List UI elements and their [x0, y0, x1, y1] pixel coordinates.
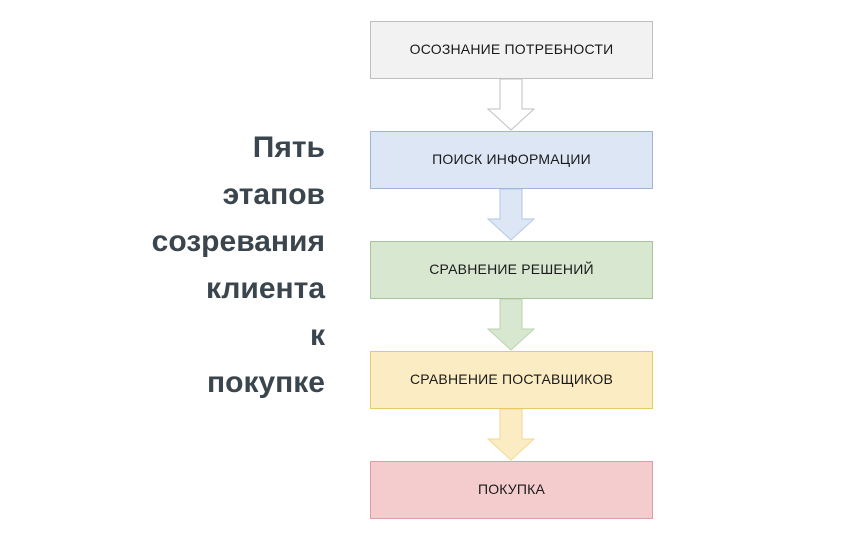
- arrow-down-icon-3: [487, 299, 535, 351]
- flow-stage-5[interactable]: ПОКУПКА: [370, 461, 653, 519]
- flow-stage-4[interactable]: СРАВНЕНИЕ ПОСТАВЩИКОВ: [370, 351, 653, 409]
- page-title: Пять этапов созревания клиента к покупке: [20, 124, 325, 406]
- page-title-line-2: этапов: [20, 171, 325, 218]
- flowchart: ОСОЗНАНИЕ ПОТРЕБНОСТИ ПОИСК ИНФОРМАЦИИ С…: [370, 21, 653, 521]
- diagram-canvas: Пять этапов созревания клиента к покупке…: [0, 0, 850, 541]
- arrow-down-icon-4: [487, 409, 535, 461]
- page-title-line-4: клиента: [20, 265, 325, 312]
- flow-stage-5-label: ПОКУПКА: [478, 482, 545, 497]
- flow-stage-2-label: ПОИСК ИНФОРМАЦИИ: [432, 152, 591, 167]
- flow-stage-1[interactable]: ОСОЗНАНИЕ ПОТРЕБНОСТИ: [370, 21, 653, 79]
- page-title-line-5: к: [20, 312, 325, 359]
- arrow-down-icon-1: [487, 79, 535, 131]
- flow-stage-4-label: СРАВНЕНИЕ ПОСТАВЩИКОВ: [410, 372, 613, 387]
- flow-stage-1-label: ОСОЗНАНИЕ ПОТРЕБНОСТИ: [410, 42, 614, 57]
- flow-stage-2[interactable]: ПОИСК ИНФОРМАЦИИ: [370, 131, 653, 189]
- flow-stage-3-label: СРАВНЕНИЕ РЕШЕНИЙ: [429, 262, 594, 277]
- page-title-line-3: созревания: [20, 218, 325, 265]
- page-title-line-1: Пять: [20, 124, 325, 171]
- page-title-line-6: покупке: [20, 359, 325, 406]
- arrow-down-icon-2: [487, 189, 535, 241]
- flow-stage-3[interactable]: СРАВНЕНИЕ РЕШЕНИЙ: [370, 241, 653, 299]
